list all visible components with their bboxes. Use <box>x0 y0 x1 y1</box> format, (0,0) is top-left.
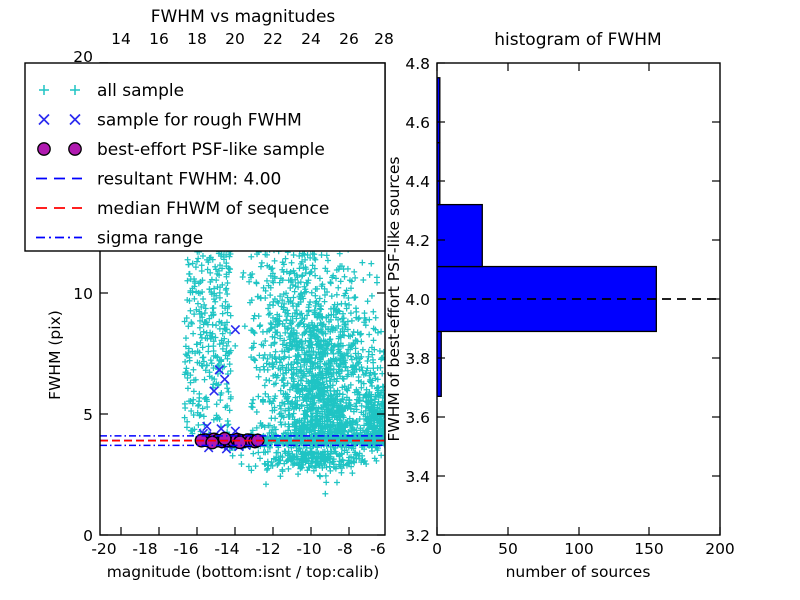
hist-y-tick-3-4: 3.4 <box>405 468 430 486</box>
left-panel-top-ticklabels: 14 16 18 20 22 24 26 28 <box>111 30 394 48</box>
legend-item-label: median FHWM of sequence <box>97 199 329 219</box>
hist-y-tick-4-6: 4.6 <box>405 114 430 132</box>
top-tick-3: 20 <box>225 30 245 48</box>
hist-y-tick-4-0: 4.0 <box>405 291 430 309</box>
bottom-tick-6: -8 <box>337 540 352 558</box>
figure-canvas: FWHM vs magnitudes 14 16 18 20 22 24 26 … <box>0 0 800 600</box>
hist-y-tick-4-2: 4.2 <box>405 232 430 250</box>
legend-item-label: all sample <box>97 81 184 101</box>
hist-y-tick-3-2: 3.2 <box>405 527 430 545</box>
top-tick-6: 26 <box>339 30 359 48</box>
hist-y-tick-4-4: 4.4 <box>405 173 430 191</box>
matplotlib-figure: FWHM vs magnitudes 14 16 18 20 22 24 26 … <box>0 0 800 600</box>
circle-marker-icon <box>38 143 50 155</box>
right-panel-title: histogram of FWHM <box>494 30 661 50</box>
top-tick-4: 22 <box>263 30 283 48</box>
circle-marker-icon <box>69 143 81 155</box>
series-best-effort-psf-like-sample <box>195 433 264 449</box>
hist-x-tick-150: 150 <box>634 540 664 558</box>
right-panel-xlabel: number of sources <box>506 563 651 581</box>
hist-x-tick-50: 50 <box>498 540 518 558</box>
y-tick-10: 10 <box>73 285 93 303</box>
hist-x-tick-100: 100 <box>564 540 594 558</box>
right-panel-histogram: histogram of FWHM 0 <box>385 30 735 581</box>
top-tick-7: 28 <box>374 30 394 48</box>
hist-y-tick-4-8: 4.8 <box>405 55 430 73</box>
right-panel-ylabel: FWHM of best-effort PSF-like sources <box>385 156 403 441</box>
legend-box: all samplesample for rough FWHMbest-effo… <box>25 63 385 251</box>
left-panel-bottom-ticklabels: -20 -18 -16 -14 -12 -10 -8 -6 <box>91 540 385 558</box>
top-tick-2: 18 <box>187 30 207 48</box>
histogram-bars-layer <box>437 78 656 397</box>
hist-x-tick-0: 0 <box>432 540 442 558</box>
bottom-tick-0: -20 <box>91 540 116 558</box>
bottom-tick-5: -10 <box>296 540 321 558</box>
bottom-tick-3: -14 <box>214 540 239 558</box>
right-panel-y-ticklabels: 3.2 3.4 3.6 3.8 4.0 4.2 4.4 4.6 4.8 <box>405 55 430 545</box>
legend-item-label: sample for rough FWHM <box>97 111 302 131</box>
bottom-tick-7: -6 <box>370 540 385 558</box>
legend-item-label: best-effort PSF-like sample <box>97 140 325 160</box>
hist-y-tick-3-8: 3.8 <box>405 350 430 368</box>
y-tick-0: 0 <box>83 527 93 545</box>
top-tick-1: 16 <box>149 30 169 48</box>
top-tick-0: 14 <box>111 30 131 48</box>
left-panel-xlabel: magnitude (bottom:isnt / top:calib) <box>107 563 380 581</box>
left-panel-ylabel: FWHM (pix) <box>46 310 64 400</box>
right-panel-x-ticklabels: 0 50 100 150 200 <box>432 540 735 558</box>
bottom-tick-4: -12 <box>255 540 280 558</box>
histogram-bar <box>437 205 482 267</box>
bottom-tick-1: -18 <box>132 540 157 558</box>
left-panel-title: FWHM vs magnitudes <box>151 7 336 27</box>
legend-item-label: sigma range <box>97 229 203 249</box>
legend-item-label: resultant FWHM: 4.00 <box>97 170 281 190</box>
y-tick-5: 5 <box>83 406 93 424</box>
top-tick-5: 24 <box>301 30 321 48</box>
bottom-tick-2: -16 <box>173 540 198 558</box>
hist-x-tick-200: 200 <box>705 540 735 558</box>
hist-y-tick-3-6: 3.6 <box>405 409 430 427</box>
